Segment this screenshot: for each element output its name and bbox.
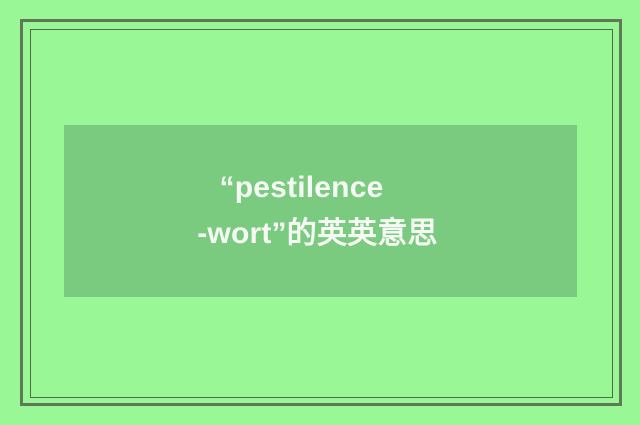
headline-line-2: -wort”的英英意思 <box>197 211 438 257</box>
headline-panel: “pestilence -wort”的英英意思 <box>64 125 577 297</box>
headline-line-1: “pestilence <box>220 165 384 211</box>
image-card: “pestilence -wort”的英英意思 <box>0 0 640 425</box>
